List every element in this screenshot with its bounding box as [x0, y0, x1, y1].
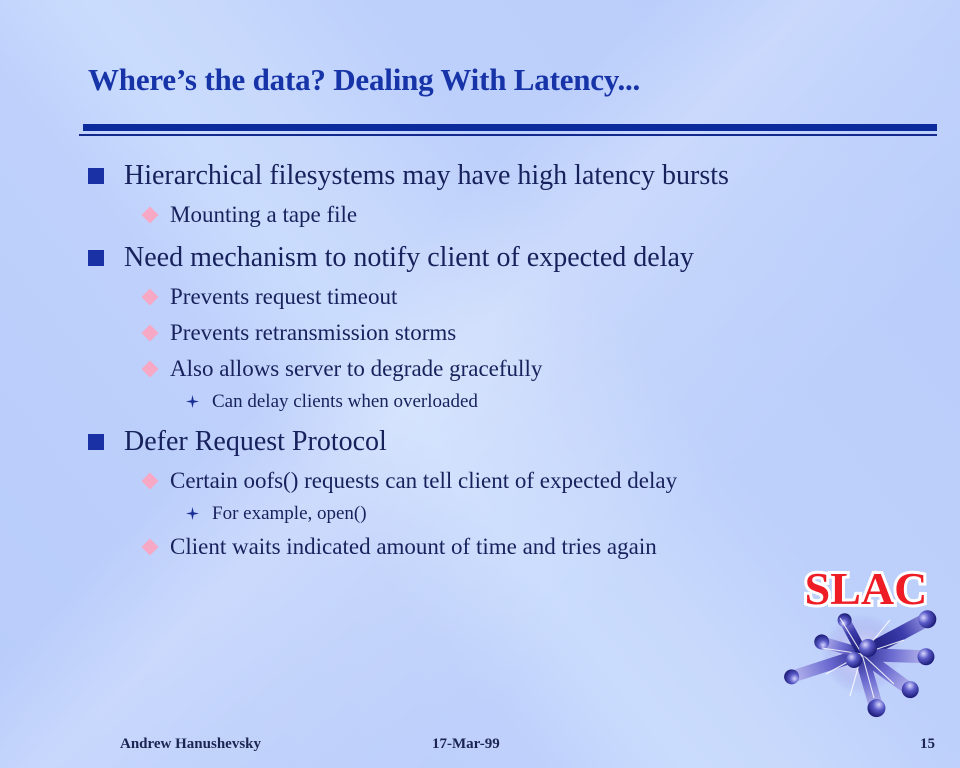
bullet-item-level3: For example, open() — [0, 499, 960, 528]
title-rule-thin — [79, 134, 937, 136]
bullet-text: For example, open() — [212, 499, 367, 528]
bullet-text: Prevents retransmission storms — [170, 316, 456, 350]
bullet-text: Hierarchical filesystems may have high l… — [124, 155, 729, 196]
slide-canvas: Where’s the data? Dealing With Latency..… — [0, 0, 960, 768]
bullet-text: Also allows server to degrade gracefully — [170, 352, 542, 386]
slac-logo: SLAC SLAC — [778, 556, 954, 728]
footer-page-number: 15 — [920, 736, 935, 753]
star-bullet-icon — [186, 507, 199, 520]
diamond-bullet-icon — [142, 539, 159, 556]
bullet-text: Prevents request timeout — [170, 280, 397, 314]
bullet-text: Need mechanism to notify client of expec… — [124, 237, 694, 278]
diamond-bullet-icon — [142, 207, 159, 224]
square-bullet-icon — [88, 168, 104, 184]
square-bullet-icon — [88, 434, 104, 450]
diamond-bullet-icon — [142, 325, 159, 342]
footer-author: Andrew Hanushevsky — [120, 736, 261, 753]
bullet-text: Can delay clients when overloaded — [212, 387, 478, 416]
bullet-text: Certain oofs() requests can tell client … — [170, 464, 677, 498]
footer-date: 17-Mar-99 — [432, 736, 500, 753]
title-rule-thick — [83, 124, 937, 131]
bullet-item-level1: Defer Request Protocol — [0, 421, 960, 462]
square-bullet-icon — [88, 250, 104, 266]
bullet-text: Client waits indicated amount of time an… — [170, 530, 657, 564]
bullet-item-level2: Prevents request timeout — [0, 280, 960, 314]
bullet-item-level2: Also allows server to degrade gracefully — [0, 352, 960, 386]
diamond-bullet-icon — [142, 361, 159, 378]
diamond-bullet-icon — [142, 473, 159, 490]
bullet-item-level3: Can delay clients when overloaded — [0, 387, 960, 416]
bullet-item-level2: Certain oofs() requests can tell client … — [0, 464, 960, 498]
bullet-text: Mounting a tape file — [170, 198, 357, 232]
star-bullet-icon — [186, 395, 199, 408]
bullet-item-level1: Hierarchical filesystems may have high l… — [0, 155, 960, 196]
bullet-item-level1: Need mechanism to notify client of expec… — [0, 237, 960, 278]
bullet-list: Hierarchical filesystems may have high l… — [0, 150, 960, 564]
bullet-item-level2: Mounting a tape file — [0, 198, 960, 232]
slac-logo-text: SLAC — [805, 563, 928, 614]
bullet-item-level2: Prevents retransmission storms — [0, 316, 960, 350]
diamond-bullet-icon — [142, 289, 159, 306]
page-title: Where’s the data? Dealing With Latency..… — [88, 62, 640, 98]
bullet-text: Defer Request Protocol — [124, 421, 387, 462]
